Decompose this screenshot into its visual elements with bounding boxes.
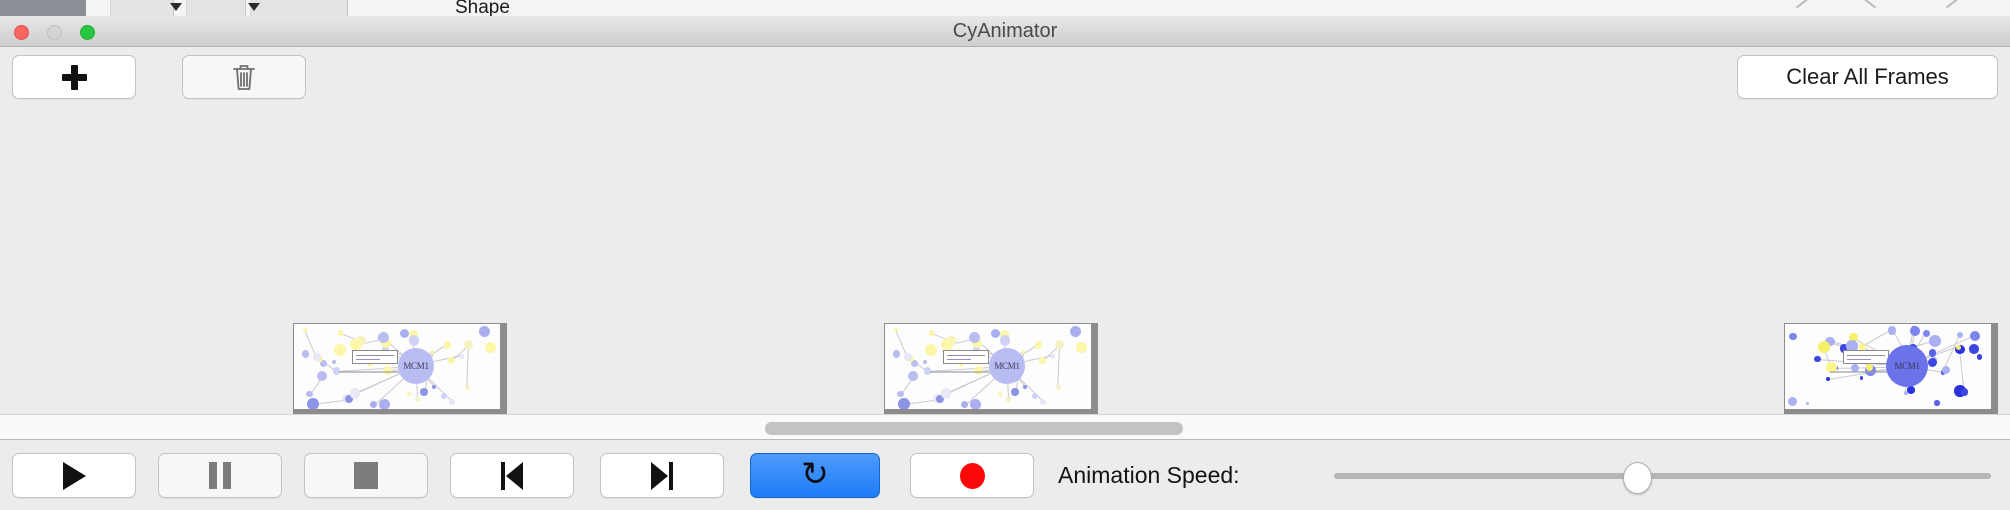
network-node	[432, 385, 436, 389]
timeline-panel[interactable]: MCM1MCM1MCM1 2131415161718 Seconds	[0, 109, 2010, 414]
decorative-slash	[1796, 0, 1809, 8]
network-node	[1070, 326, 1081, 337]
title-bar: CyAnimator	[0, 16, 2010, 47]
network-caption	[930, 371, 990, 373]
loop-icon: ↻	[801, 457, 829, 490]
network-node	[893, 350, 901, 358]
network-node	[1977, 354, 1983, 360]
network-node	[420, 388, 428, 396]
network-node	[1923, 330, 1930, 337]
network-annotation-box	[1843, 350, 1889, 364]
toolbar: Clear All Frames	[0, 47, 2010, 110]
background-tab	[250, 0, 348, 16]
network-node	[1788, 397, 1797, 406]
network-node	[1055, 340, 1064, 349]
frame-network-preview: MCM1	[1784, 323, 1992, 410]
network-node	[368, 364, 372, 368]
network-node	[929, 330, 935, 336]
plus-icon	[62, 65, 87, 90]
network-node	[1904, 391, 1908, 395]
animation-speed-slider[interactable]	[1334, 453, 1991, 498]
network-node	[1039, 357, 1046, 364]
decorative-slash	[1863, 0, 1876, 8]
network-node	[1942, 366, 1950, 374]
network-node	[464, 340, 473, 349]
background-tab	[186, 0, 246, 16]
network-node	[1970, 331, 1980, 341]
playback-bar: ↻ Animation Speed:	[0, 441, 2010, 510]
caret-down-icon	[170, 3, 182, 11]
network-node	[1961, 388, 1969, 396]
network-node	[1907, 386, 1914, 393]
network-node	[941, 339, 953, 351]
network-node	[379, 399, 390, 410]
record-icon	[960, 463, 985, 489]
network-node	[1051, 354, 1056, 359]
network-node	[307, 398, 319, 410]
scrollbar-thumb[interactable]	[765, 422, 1183, 435]
window-title: CyAnimator	[0, 16, 2010, 47]
network-hub-node: MCM1	[1886, 345, 1928, 387]
clear-all-frames-button[interactable]: Clear All Frames	[1737, 55, 1998, 99]
network-node	[894, 328, 898, 332]
network-node	[1076, 342, 1087, 353]
network-node	[941, 388, 951, 398]
network-node	[898, 398, 910, 410]
network-node	[306, 391, 312, 397]
network-caption	[1830, 371, 1890, 373]
network-node	[961, 401, 968, 408]
network-node	[923, 360, 928, 365]
skip-forward-icon	[650, 462, 674, 490]
network-node	[460, 354, 465, 359]
network-node	[1818, 341, 1830, 353]
caret-down-icon	[248, 3, 260, 11]
pause-button[interactable]	[158, 453, 282, 498]
network-node	[338, 330, 344, 336]
network-node	[1860, 376, 1863, 379]
network-node	[303, 328, 307, 332]
network-node	[1928, 358, 1937, 367]
last-frame-button[interactable]	[600, 453, 724, 498]
network-node	[1929, 349, 1936, 356]
network-node	[448, 357, 455, 364]
play-icon	[63, 462, 86, 490]
network-node	[313, 353, 320, 360]
timeline-frame-thumbnail[interactable]: MCM1	[884, 323, 1098, 414]
network-node	[465, 385, 470, 390]
network-node	[332, 360, 337, 365]
network-node	[1814, 356, 1821, 363]
pause-icon	[209, 462, 231, 489]
timeline-scrollbar[interactable]	[0, 414, 2010, 440]
network-caption	[339, 371, 399, 373]
skip-back-icon	[500, 462, 524, 490]
frame-network-preview: MCM1	[884, 323, 1092, 410]
network-node	[1969, 344, 1979, 354]
network-node	[479, 326, 490, 337]
record-button[interactable]	[910, 453, 1034, 498]
first-frame-button[interactable]	[450, 453, 574, 498]
background-window-strip: Shape	[0, 0, 2010, 17]
loop-button[interactable]: ↻	[750, 453, 880, 498]
cyanimator-window: Shape CyAnimator Clear All Frames MCM1MC…	[0, 0, 2010, 510]
stop-button[interactable]	[304, 453, 428, 498]
network-node	[350, 339, 362, 351]
network-node	[1888, 326, 1897, 335]
network-node	[904, 353, 911, 360]
network-node	[350, 388, 360, 398]
network-node	[1934, 400, 1939, 405]
network-node	[1035, 341, 1043, 349]
network-node	[1023, 385, 1027, 389]
network-node	[991, 329, 1000, 338]
network-node	[1929, 335, 1941, 347]
network-node	[334, 344, 346, 356]
network-node	[441, 393, 447, 399]
network-node	[1056, 385, 1061, 390]
network-hub-node: MCM1	[398, 348, 434, 384]
network-annotation-box	[943, 350, 989, 364]
frame-network-preview: MCM1	[293, 323, 501, 410]
network-node	[908, 371, 918, 381]
network-node	[970, 399, 981, 410]
network-edge	[1057, 344, 1060, 387]
network-node	[415, 397, 420, 402]
network-node	[1956, 345, 1961, 350]
animation-speed-label: Animation Speed:	[1058, 453, 1240, 498]
decorative-slash	[1946, 0, 1959, 8]
background-tab	[110, 0, 174, 16]
network-annotation-box	[352, 350, 398, 364]
timeline-frame-thumbnail[interactable]: MCM1	[1784, 323, 1998, 414]
network-node	[1006, 397, 1011, 402]
network-node	[998, 392, 1002, 396]
delete-frame-button[interactable]	[182, 55, 306, 99]
network-node	[1806, 402, 1809, 405]
network-node	[409, 335, 420, 346]
timeline-frame-thumbnail[interactable]: MCM1	[293, 323, 507, 414]
network-node	[317, 371, 327, 381]
network-node	[1826, 377, 1830, 381]
play-button[interactable]	[12, 453, 136, 498]
network-node	[1000, 335, 1011, 346]
network-node	[1032, 393, 1038, 399]
network-node	[959, 364, 963, 368]
network-node	[400, 329, 409, 338]
network-node	[1910, 326, 1920, 336]
network-node	[407, 392, 411, 396]
network-node	[1789, 333, 1797, 341]
background-window-label: Shape	[455, 0, 510, 17]
network-node	[431, 350, 434, 353]
add-frame-button[interactable]	[12, 55, 136, 99]
network-node	[1957, 332, 1964, 339]
network-node	[485, 342, 496, 353]
network-node	[1022, 350, 1025, 353]
network-node	[449, 399, 455, 405]
network-node	[370, 401, 377, 408]
network-node	[1011, 388, 1019, 396]
network-node	[925, 344, 937, 356]
network-edge	[466, 344, 469, 387]
slider-track[interactable]	[1334, 473, 1991, 479]
network-node	[444, 341, 452, 349]
clear-all-frames-label: Clear All Frames	[1786, 64, 1949, 90]
network-node	[1040, 399, 1046, 405]
network-hub-node: MCM1	[989, 348, 1025, 384]
background-window-titlebar-fragment	[0, 0, 86, 16]
slider-thumb[interactable]	[1623, 462, 1652, 494]
network-node	[897, 391, 903, 397]
network-node	[302, 350, 310, 358]
stop-icon	[354, 462, 378, 489]
trash-icon	[231, 62, 257, 92]
